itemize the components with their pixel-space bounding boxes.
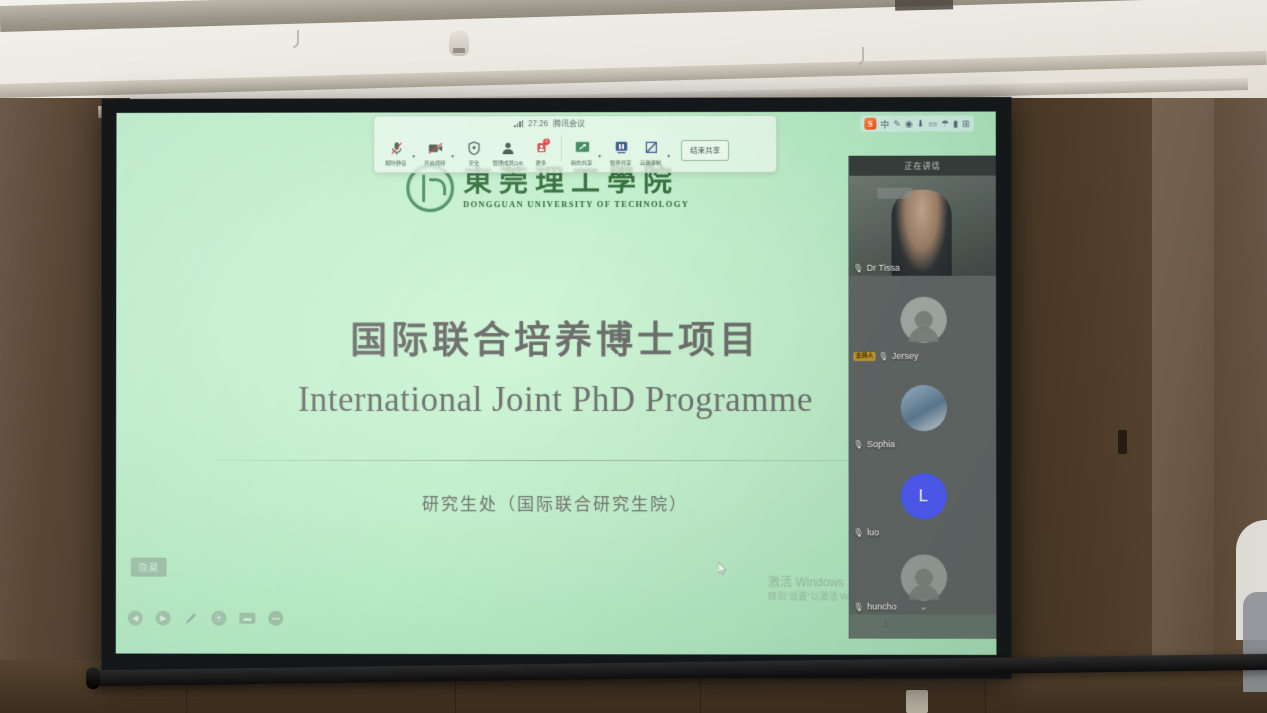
toolbar-item-annotate[interactable]: 云端录制	[636, 139, 666, 167]
video-caret-icon[interactable]: ▾	[451, 153, 458, 160]
ime-skin-icon[interactable]: ▮	[953, 118, 958, 129]
person-seated	[1243, 592, 1267, 692]
microphone-icon: 🎙	[853, 263, 863, 272]
participant-name: huncho	[867, 602, 897, 612]
ppt-hide-tooltip: 隐藏	[131, 558, 167, 577]
toolbar-label-annotate: 云端录制	[640, 158, 661, 166]
camera-off-icon	[427, 139, 444, 156]
more-icon: 1	[533, 139, 550, 156]
slide-divider	[216, 460, 876, 461]
toolbar-item-unmute[interactable]: 解除静音	[381, 139, 411, 167]
pen-tool-button[interactable]	[184, 611, 199, 626]
participant-tile[interactable]: 🎙 Sophia	[849, 364, 996, 452]
university-logo-text: 東莞理工學院 DONGGUAN UNIVERSITY OF TECHNOLOGY	[463, 167, 689, 209]
toolbar-label-security: 安全	[469, 159, 480, 167]
sogou-s-icon[interactable]: S	[864, 118, 876, 130]
microphone-icon: 🎙	[854, 602, 864, 611]
toolbar-item-new-share[interactable]: 新的共享	[567, 139, 597, 167]
more-badge-count: 1	[543, 138, 550, 145]
toolbar-separator	[561, 135, 562, 161]
participant-name: Sophia	[867, 439, 895, 449]
wall-right	[1000, 98, 1267, 713]
microphone-icon: 🎙	[854, 528, 864, 537]
tencent-meeting-toolbar[interactable]: 27:26 腾讯会议 解除静音 ▾	[373, 115, 777, 173]
ceiling-rail-upper	[0, 0, 1267, 32]
participant-tile[interactable]: 🎙 Dr Tissa	[849, 176, 996, 276]
meeting-timer: 27:26	[528, 119, 548, 128]
share-caret-icon[interactable]: ▾	[598, 153, 605, 160]
sidebar-header-speaking: 正在讲话	[849, 156, 996, 176]
ime-keyboard-icon[interactable]: ▭	[928, 118, 937, 129]
ime-emoji-icon[interactable]: ◉	[905, 118, 913, 129]
video-overlay-strip	[877, 188, 911, 199]
avatar	[900, 554, 946, 600]
chevron-down-icon[interactable]: ⌄	[920, 602, 928, 613]
mouse-cursor-icon	[718, 562, 726, 574]
person-silhouette-icon	[914, 568, 932, 586]
participant-name-row: 🎙 luo	[854, 527, 879, 537]
toolbar-label-unmute: 解除静音	[386, 159, 407, 167]
meeting-status: 27:26 腾讯会议	[514, 118, 585, 129]
participant-tile[interactable]: 主持人 🎙 Jersey	[849, 276, 996, 364]
share-screen-icon	[574, 139, 591, 156]
end-share-button[interactable]: 结束共享	[681, 140, 729, 161]
participant-tile[interactable]: L 🎙 luo	[850, 452, 997, 540]
microphone-icon: 🎙	[879, 351, 889, 360]
door-edge	[1118, 430, 1127, 454]
toolbar-item-pause-share[interactable]: 暂停共享	[606, 139, 636, 167]
zoom-tool-button[interactable]: ⦿	[211, 611, 226, 626]
ime-menu-icon[interactable]: ⊞	[962, 118, 970, 129]
toolbar-label-participants: 管理成员(14)	[492, 159, 522, 167]
microphone-icon: 🎙	[854, 440, 864, 449]
slide-show-button[interactable]: ▬	[239, 613, 255, 624]
ime-chinese-mode-icon[interactable]: 中	[880, 117, 889, 130]
person-silhouette-icon	[914, 311, 932, 329]
unmute-caret-icon[interactable]: ▾	[412, 153, 419, 160]
toolbar-label-new-share: 新的共享	[571, 158, 592, 166]
avatar: L	[900, 473, 946, 519]
toolbar-item-participants[interactable]: 管理成员(14)	[489, 139, 526, 167]
roller-knob-left	[86, 667, 100, 689]
participant-video-feed	[891, 190, 951, 276]
projected-shared-screen: 東莞理工學院 DONGGUAN UNIVERSITY OF TECHNOLOGY…	[116, 112, 997, 655]
ime-pen-icon[interactable]: ✎	[893, 118, 901, 129]
participant-name: Dr Tissa	[867, 263, 900, 273]
participant-name-row: 主持人 🎙 Jersey	[853, 351, 918, 361]
toolbar-label-start-video: 开启视频	[425, 159, 446, 167]
wall-power-outlet	[906, 690, 928, 713]
annotate-caret-icon[interactable]: ▾	[667, 153, 674, 160]
pause-share-icon	[613, 139, 630, 156]
ime-umbrella-icon[interactable]: ☂	[941, 118, 949, 129]
toolbar-label-more: 更多	[536, 159, 547, 167]
avatar	[900, 385, 946, 431]
ceiling-hook	[293, 30, 299, 48]
microphone-muted-icon	[388, 139, 405, 156]
avatar	[900, 297, 946, 343]
more-options-button[interactable]: •••	[268, 611, 283, 626]
meeting-app-name: 腾讯会议	[553, 118, 585, 129]
participant-name-row: 🎙 Dr Tissa	[853, 263, 899, 273]
participant-sidebar[interactable]: 正在讲话 🎙 Dr Tissa 主持人 🎙 Jersey	[848, 156, 996, 639]
previous-slide-button[interactable]: ◀	[128, 611, 143, 626]
conference-room-photo: 東莞理工學院 DONGGUAN UNIVERSITY OF TECHNOLOGY…	[0, 0, 1267, 713]
next-slide-button[interactable]: ▶	[156, 611, 171, 626]
toolbar-item-security[interactable]: 安全	[459, 139, 489, 167]
signal-bars-icon	[514, 120, 523, 127]
university-name-en: DONGGUAN UNIVERSITY OF TECHNOLOGY	[463, 199, 689, 209]
ppt-slideshow-controls[interactable]: ◀ ▶ ⦿ ▬ •••	[128, 611, 283, 626]
toolbar-item-more[interactable]: 1 更多	[526, 139, 556, 167]
toolbar-label-pause-share: 暂停共享	[610, 158, 631, 166]
ime-download-icon[interactable]: ⬇	[917, 118, 925, 129]
annotate-icon	[643, 139, 660, 156]
toolbar-item-start-video[interactable]: 开启视频	[420, 139, 450, 167]
ceiling-vent	[895, 0, 953, 11]
host-badge: 主持人	[853, 351, 875, 360]
wall-pillar	[1152, 98, 1214, 713]
participant-name-row: 🎙 Sophia	[854, 439, 895, 449]
participant-name-row: 🎙 huncho	[854, 602, 897, 612]
smoke-detector-icon	[449, 30, 469, 56]
participant-tile[interactable]: 🎙 huncho ⌄	[850, 540, 997, 614]
sogou-ime-tray[interactable]: S 中 ✎ ◉ ⬇ ▭ ☂ ▮ ⊞	[860, 116, 973, 132]
participants-icon	[499, 139, 516, 156]
participant-name: Jersey	[892, 351, 919, 361]
participant-name: luo	[867, 527, 879, 537]
shield-icon	[466, 139, 483, 156]
